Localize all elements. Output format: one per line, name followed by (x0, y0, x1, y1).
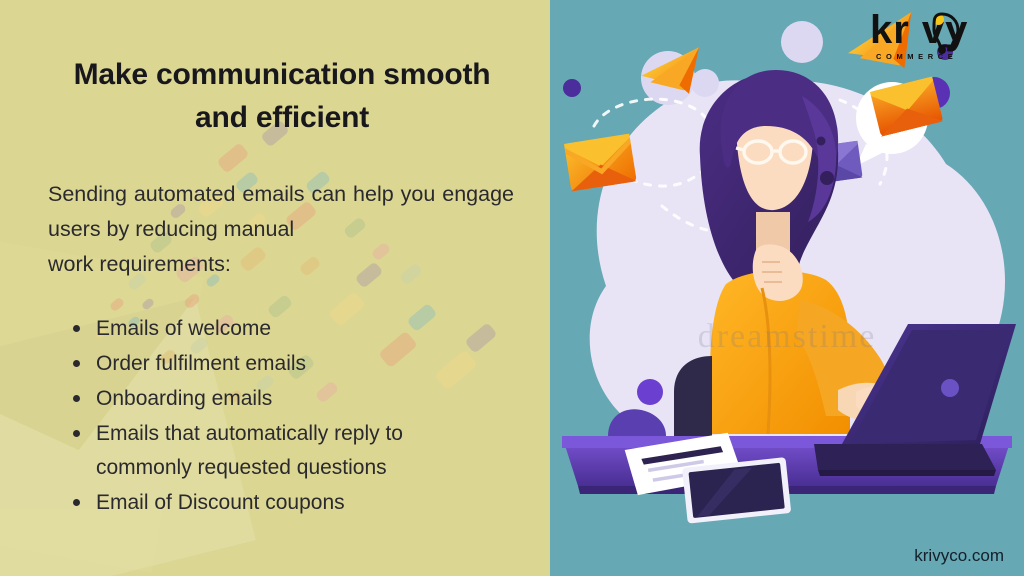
deco-dot-4 (637, 379, 663, 405)
list-item: Email of Discount coupons (70, 486, 520, 520)
list-item-text: Onboarding emails (96, 387, 272, 410)
page-title: Make communication smooth and efficient (48, 54, 516, 139)
slide-root: Make communication smooth and efficient … (0, 0, 1024, 576)
left-panel: Make communication smooth and efficient … (0, 0, 550, 576)
list-item: Emails that automatically reply tocommon… (70, 417, 520, 485)
intro-paragraph: Sending automated emails can help you en… (48, 177, 514, 281)
email-automation-illustration (550, 0, 1024, 576)
benefits-bullet-list: Emails of welcomeOrder fulfilment emails… (70, 312, 520, 521)
brand-logo[interactable]: kr vy COMMERCE (870, 8, 1006, 68)
footer-website-url[interactable]: krivyco.com (914, 546, 1004, 566)
envelope-icon-orange-left (564, 134, 637, 192)
list-item: Order fulfilment emails (70, 347, 520, 381)
list-item-text: Order fulfilment emails (96, 352, 306, 375)
deco-circle-2 (781, 21, 823, 63)
paragraph-line-1: Sending automated emails can help (48, 182, 394, 206)
list-item: Emails of welcome (70, 312, 520, 346)
headline-line-1: Make communication smooth (74, 58, 491, 91)
deco-dot-1 (563, 79, 581, 97)
right-panel: dreamstime kr vy COMMERCE krivyco.com (550, 0, 1024, 576)
list-item: Onboarding emails (70, 382, 520, 416)
logo-subtitle: COMMERCE (876, 52, 957, 61)
tablet-device (682, 457, 791, 524)
deco-circle-3 (691, 69, 719, 97)
list-item-text: Emails of welcome (96, 317, 271, 340)
headline-line-2: and efficient (195, 101, 369, 134)
list-item-text: Emails that automatically reply to (96, 422, 403, 445)
paragraph-line-3: work requirements: (48, 247, 514, 282)
confetti-shape (216, 142, 249, 174)
logo-bulb-outline-icon (920, 10, 964, 54)
list-item-text: Email of Discount coupons (96, 491, 345, 514)
list-item-text-wrap: commonly requested questions (96, 451, 520, 485)
